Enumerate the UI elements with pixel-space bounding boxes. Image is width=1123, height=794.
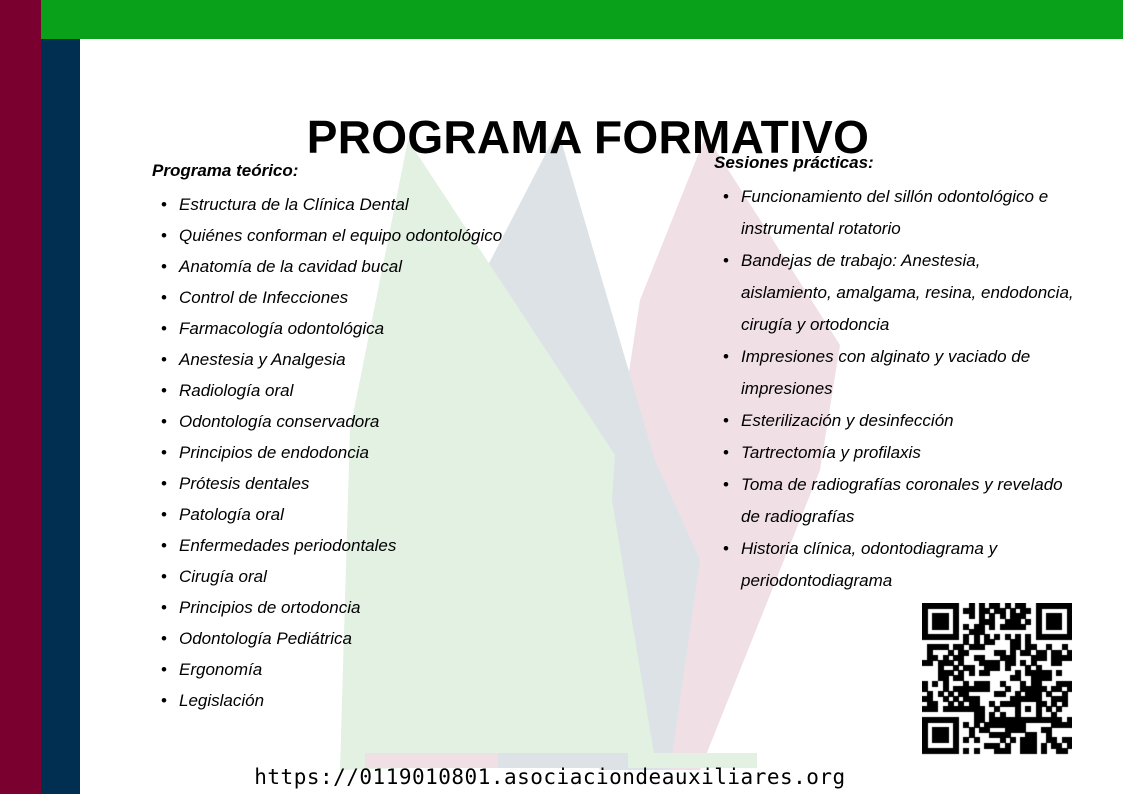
list-item: Esterilización y desinfección xyxy=(714,405,1074,437)
left-maroon-bar xyxy=(0,0,41,794)
list-item: Farmacología odontológica xyxy=(152,313,552,344)
list-item: Control de Infecciones xyxy=(152,282,552,313)
list-item: Anatomía de la cavidad bucal xyxy=(152,251,552,282)
list-item: Toma de radiografías coronales y revelad… xyxy=(714,469,1074,533)
list-item: Funcionamiento del sillón odontológico e… xyxy=(714,181,1074,245)
list-item: Patología oral xyxy=(152,499,552,530)
footer-url[interactable]: https://0119010801.asociaciondeauxiliare… xyxy=(80,765,1020,789)
list-item: Cirugía oral xyxy=(152,561,552,592)
list-item: Principios de endodoncia xyxy=(152,437,552,468)
theory-program-column: Programa teórico: Estructura de la Clíni… xyxy=(152,160,552,716)
list-item: Prótesis dentales xyxy=(152,468,552,499)
list-item: Principios de ortodoncia xyxy=(152,592,552,623)
list-item: Radiología oral xyxy=(152,375,552,406)
list-item: Historia clínica, odontodiagrama y perio… xyxy=(714,533,1074,597)
left-navy-bar xyxy=(41,39,80,794)
list-item: Enfermedades periodontales xyxy=(152,530,552,561)
theory-program-heading: Programa teórico: xyxy=(152,160,552,182)
list-item: Estructura de la Clínica Dental xyxy=(152,189,552,220)
practical-sessions-column: Sesiones prácticas: Funcionamiento del s… xyxy=(714,152,1074,597)
list-item: Ergonomía xyxy=(152,654,552,685)
list-item: Quiénes conforman el equipo odontológico xyxy=(152,220,552,251)
qr-code-icon[interactable] xyxy=(922,603,1072,757)
list-item: Legislación xyxy=(152,685,552,716)
list-item: Impresiones con alginato y vaciado de im… xyxy=(714,341,1074,405)
practical-sessions-list: Funcionamiento del sillón odontológico e… xyxy=(714,181,1074,597)
list-item: Odontología Pediátrica xyxy=(152,623,552,654)
list-item: Bandejas de trabajo: Anestesia, aislamie… xyxy=(714,245,1074,341)
list-item: Tartrectomía y profilaxis xyxy=(714,437,1074,469)
top-green-bar xyxy=(41,0,1123,39)
list-item: Odontología conservadora xyxy=(152,406,552,437)
list-item: Anestesia y Analgesia xyxy=(152,344,552,375)
theory-program-list: Estructura de la Clínica Dental Quiénes … xyxy=(152,189,552,716)
practical-sessions-heading: Sesiones prácticas: xyxy=(714,152,1074,174)
